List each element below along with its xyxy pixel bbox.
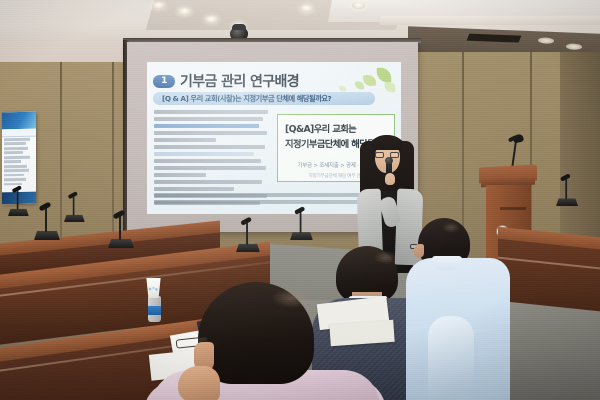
poster-table	[2, 137, 36, 189]
attendee-pink-head	[198, 282, 314, 384]
slide-number-badge: 1	[153, 75, 175, 88]
downlight-icon	[178, 8, 191, 15]
right-corner-wall	[560, 52, 600, 262]
attendee-blue-collar	[432, 256, 462, 270]
poster-header	[2, 112, 36, 130]
soffit-slot	[467, 34, 522, 43]
attendee-blue-ear	[414, 244, 424, 258]
ceiling-light-strip	[379, 16, 600, 25]
slide-title: 기부금 관리 연구배경	[180, 71, 299, 91]
lectern-nameplate	[500, 207, 526, 210]
downlight-icon	[152, 2, 165, 9]
attendee-blue-shirt	[406, 218, 512, 400]
downlight-icon	[352, 2, 365, 9]
wall-poster-schedule	[2, 112, 36, 205]
slide-subtitle-text: [Q & A] 우리 교회(사찰)는 지정기부금 단체에 해당될까요?	[153, 94, 331, 104]
downlight-icon	[538, 37, 554, 44]
right-desk-body	[498, 239, 600, 312]
presenter-bangs	[372, 137, 403, 150]
attendee-blue-shirt-body	[406, 258, 510, 400]
attendee-pink-hand	[178, 366, 220, 400]
seminar-room-photo: 1 기부금 관리 연구배경 [Q & A] 우리 교회(사찰)는 지정기부금 단…	[0, 0, 600, 400]
attendee-pink-shirt	[150, 282, 380, 400]
downlight-icon	[566, 43, 582, 50]
slide-title-row: 1 기부금 관리 연구배경	[153, 71, 299, 91]
presenter-hand	[385, 173, 395, 185]
poster-footer	[2, 192, 36, 205]
downlight-icon	[300, 5, 313, 12]
slide-subtitle-bar: [Q & A] 우리 교회(사찰)는 지정기부금 단체에 해당될까요?	[153, 92, 375, 105]
downlight-icon	[205, 16, 218, 23]
